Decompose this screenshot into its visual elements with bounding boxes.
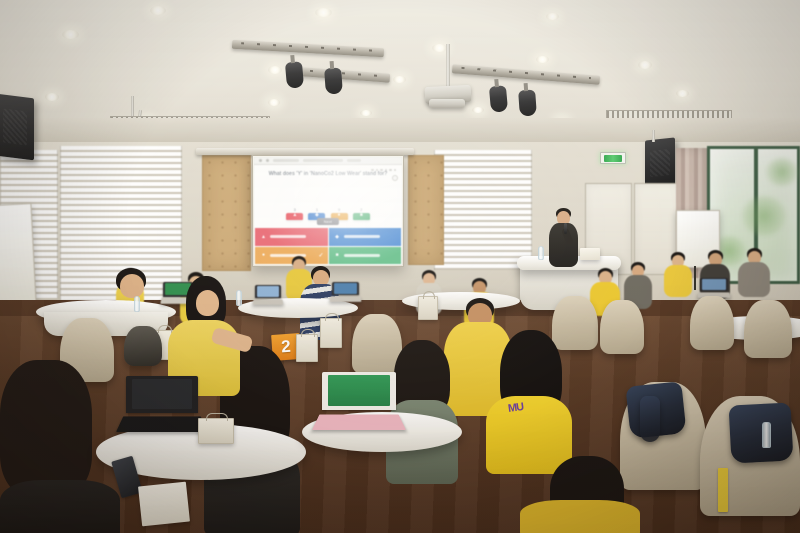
water-bottle (236, 290, 242, 306)
answer-bar-square: ■ (353, 213, 370, 220)
diamond-icon: ◆ (315, 213, 319, 218)
projector-lens-housing (429, 99, 465, 108)
slatted-wall-center (434, 150, 532, 270)
torso (738, 262, 770, 297)
audience-member (386, 340, 458, 480)
stage-light (285, 61, 304, 88)
bar-count: 2 (360, 207, 362, 212)
speaker-bracket (652, 130, 655, 142)
yellow-polo-shirt (664, 265, 692, 297)
player-dot (394, 169, 397, 172)
downlight (45, 93, 59, 101)
downlight (472, 107, 484, 113)
next-button[interactable]: Next (317, 218, 339, 225)
circle-icon: ● (338, 213, 341, 218)
downlight (676, 90, 689, 97)
quiz-answer-tiles: ▲ ◆ ● ✓ ■ (254, 227, 402, 265)
answer-text-placeholder (270, 235, 306, 238)
laptop-open-dark[interactable] (126, 376, 198, 432)
audience-member-yellow-mu-logo: MU (486, 330, 572, 470)
laptop-keyboard-pink (312, 414, 406, 430)
downlight (150, 6, 166, 15)
laptop-keyboard (252, 299, 283, 304)
projection-screen-valance (196, 148, 414, 155)
browser-url (303, 159, 343, 162)
answer-text-placeholder (344, 254, 380, 257)
projection-screen-surface: What does 'Y' in 'NanoCo2 Low Wear' stan… (254, 157, 402, 265)
triangle-icon: ▲ (292, 213, 297, 218)
bar-count: 9 (338, 207, 340, 212)
downlight (268, 99, 280, 106)
water-bottle (134, 296, 140, 312)
laptop-screen (132, 379, 192, 409)
shirt-logo-mu: MU (507, 401, 524, 415)
downlight (546, 13, 559, 20)
answer-tile-square[interactable]: ■ (329, 247, 402, 264)
covered-chair (690, 296, 734, 350)
audience-member-yellow (664, 252, 692, 296)
browser-tab (273, 159, 299, 162)
water-bottle (762, 422, 771, 448)
head (120, 274, 144, 298)
correct-check-icon: ✓ (318, 252, 323, 259)
answer-tile-triangle[interactable]: ▲ (255, 228, 328, 245)
browser-dot (259, 159, 262, 162)
exit-sign-pictogram (604, 155, 622, 162)
torso (0, 480, 120, 533)
circle-icon: ● (260, 252, 267, 259)
bar-count: 1 (316, 207, 318, 212)
audience-member (738, 248, 770, 296)
window-greenery (766, 158, 798, 186)
quiz-result-bar-chart: 3 ▲ 1 ◆ 9 ● 2 (278, 176, 379, 219)
laptop-screen-green-kahoot (328, 375, 390, 406)
laptop-lid (332, 282, 359, 295)
browser-action (347, 159, 361, 162)
laptop-open[interactable] (332, 282, 359, 302)
laptop-open[interactable] (700, 278, 728, 298)
laptop-lid (322, 372, 396, 410)
backpack-navy (640, 396, 660, 442)
downlight (360, 110, 372, 116)
downlight (268, 66, 282, 74)
audience-member-yellow (96, 268, 162, 384)
answer-tile-diamond[interactable]: ◆ (329, 228, 402, 245)
laptop-lid (700, 278, 728, 291)
emergency-exit-sign (600, 152, 626, 164)
flip-chart-leg (694, 266, 696, 290)
diamond-icon: ◆ (334, 233, 341, 240)
laptop-screen (334, 283, 357, 294)
bar-group: 3 ▲ (286, 207, 303, 220)
laptop-screen (702, 279, 726, 290)
projector-pole (446, 44, 450, 88)
downlight (315, 8, 332, 17)
flip-chart-easel-left (0, 203, 37, 305)
downlight (62, 30, 79, 39)
acoustic-cork-panel-right (408, 155, 444, 265)
downlight (638, 61, 652, 69)
presenter-speaking (544, 208, 584, 266)
audience-member-yellow (520, 456, 640, 533)
downlight (432, 44, 447, 52)
laptop-lid (255, 285, 281, 298)
slide-browser-bar (254, 157, 402, 165)
square-icon: ■ (334, 252, 341, 259)
stage-light (489, 85, 508, 112)
covered-chair (600, 300, 644, 354)
laptop-screen (257, 286, 279, 297)
laptop-open[interactable] (255, 285, 281, 305)
pink-white-laptop[interactable] (322, 372, 396, 430)
laptop-keyboard (116, 417, 207, 432)
stage-light (518, 89, 537, 116)
laptop-keyboard (329, 296, 361, 301)
square-icon: ■ (360, 213, 363, 218)
kahoot-slide: What does 'Y' in 'NanoCo2 Low Wear' stan… (254, 157, 402, 265)
bar-count: 3 (294, 207, 296, 212)
bar-group: 2 ■ (353, 207, 370, 220)
answer-text-placeholder (344, 235, 380, 238)
downlight (536, 56, 549, 63)
microphone-icon (564, 223, 567, 234)
covered-chair (744, 300, 792, 358)
downlight (393, 76, 406, 83)
seminar-room-photograph: What does 'Y' in 'NanoCo2 Low Wear' stan… (0, 0, 800, 533)
wall-speaker-left (0, 94, 34, 161)
answer-bar-triangle: ▲ (286, 213, 303, 220)
long-hair (0, 360, 92, 496)
acoustic-cork-panel-left (202, 155, 251, 271)
ceiling-soffit (0, 118, 800, 144)
yellow-lanyard (718, 468, 728, 512)
patterned-pouch (198, 418, 234, 444)
backpack-navy (729, 402, 794, 463)
head (196, 290, 219, 316)
triangle-icon: ▲ (260, 233, 267, 240)
yellow-shirt (520, 500, 640, 533)
paper-tote-bag (418, 296, 438, 320)
laptop-lid (126, 376, 198, 413)
stage-light (324, 67, 343, 94)
paper-tote-bag (320, 318, 342, 348)
browser-dot (266, 159, 269, 162)
wall-speaker-right (645, 137, 675, 188)
notebook (138, 482, 190, 527)
window-greenery (742, 196, 786, 236)
